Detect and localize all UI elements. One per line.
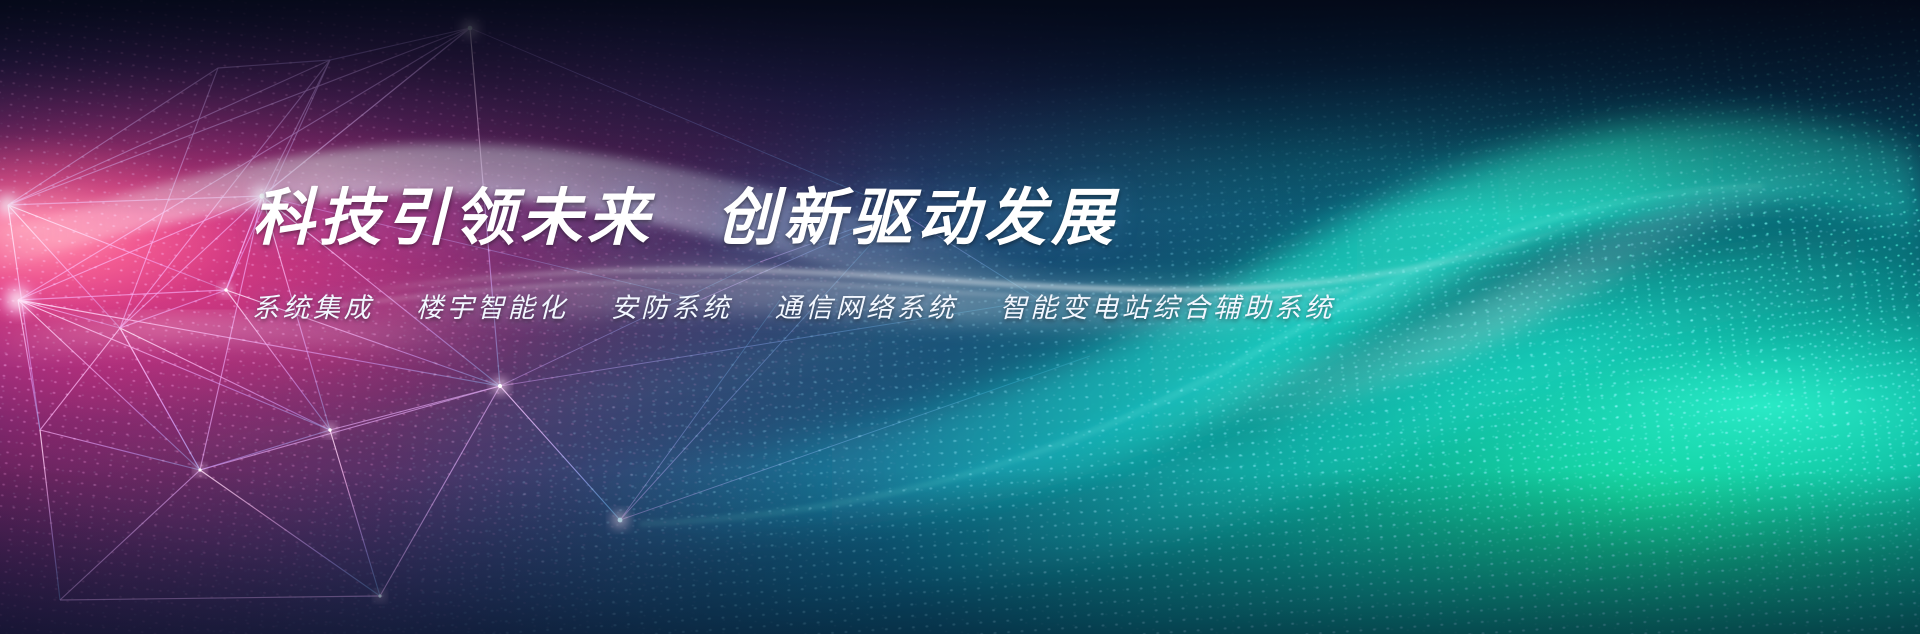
- ribbon-upper: [0, 144, 1060, 282]
- ribbon-swoosh-graphic: [0, 0, 1920, 634]
- hero-banner: 科技引领未来 创新驱动发展 系统集成 楼宇智能化 安防系统 通信网络系统 智能变…: [0, 0, 1920, 634]
